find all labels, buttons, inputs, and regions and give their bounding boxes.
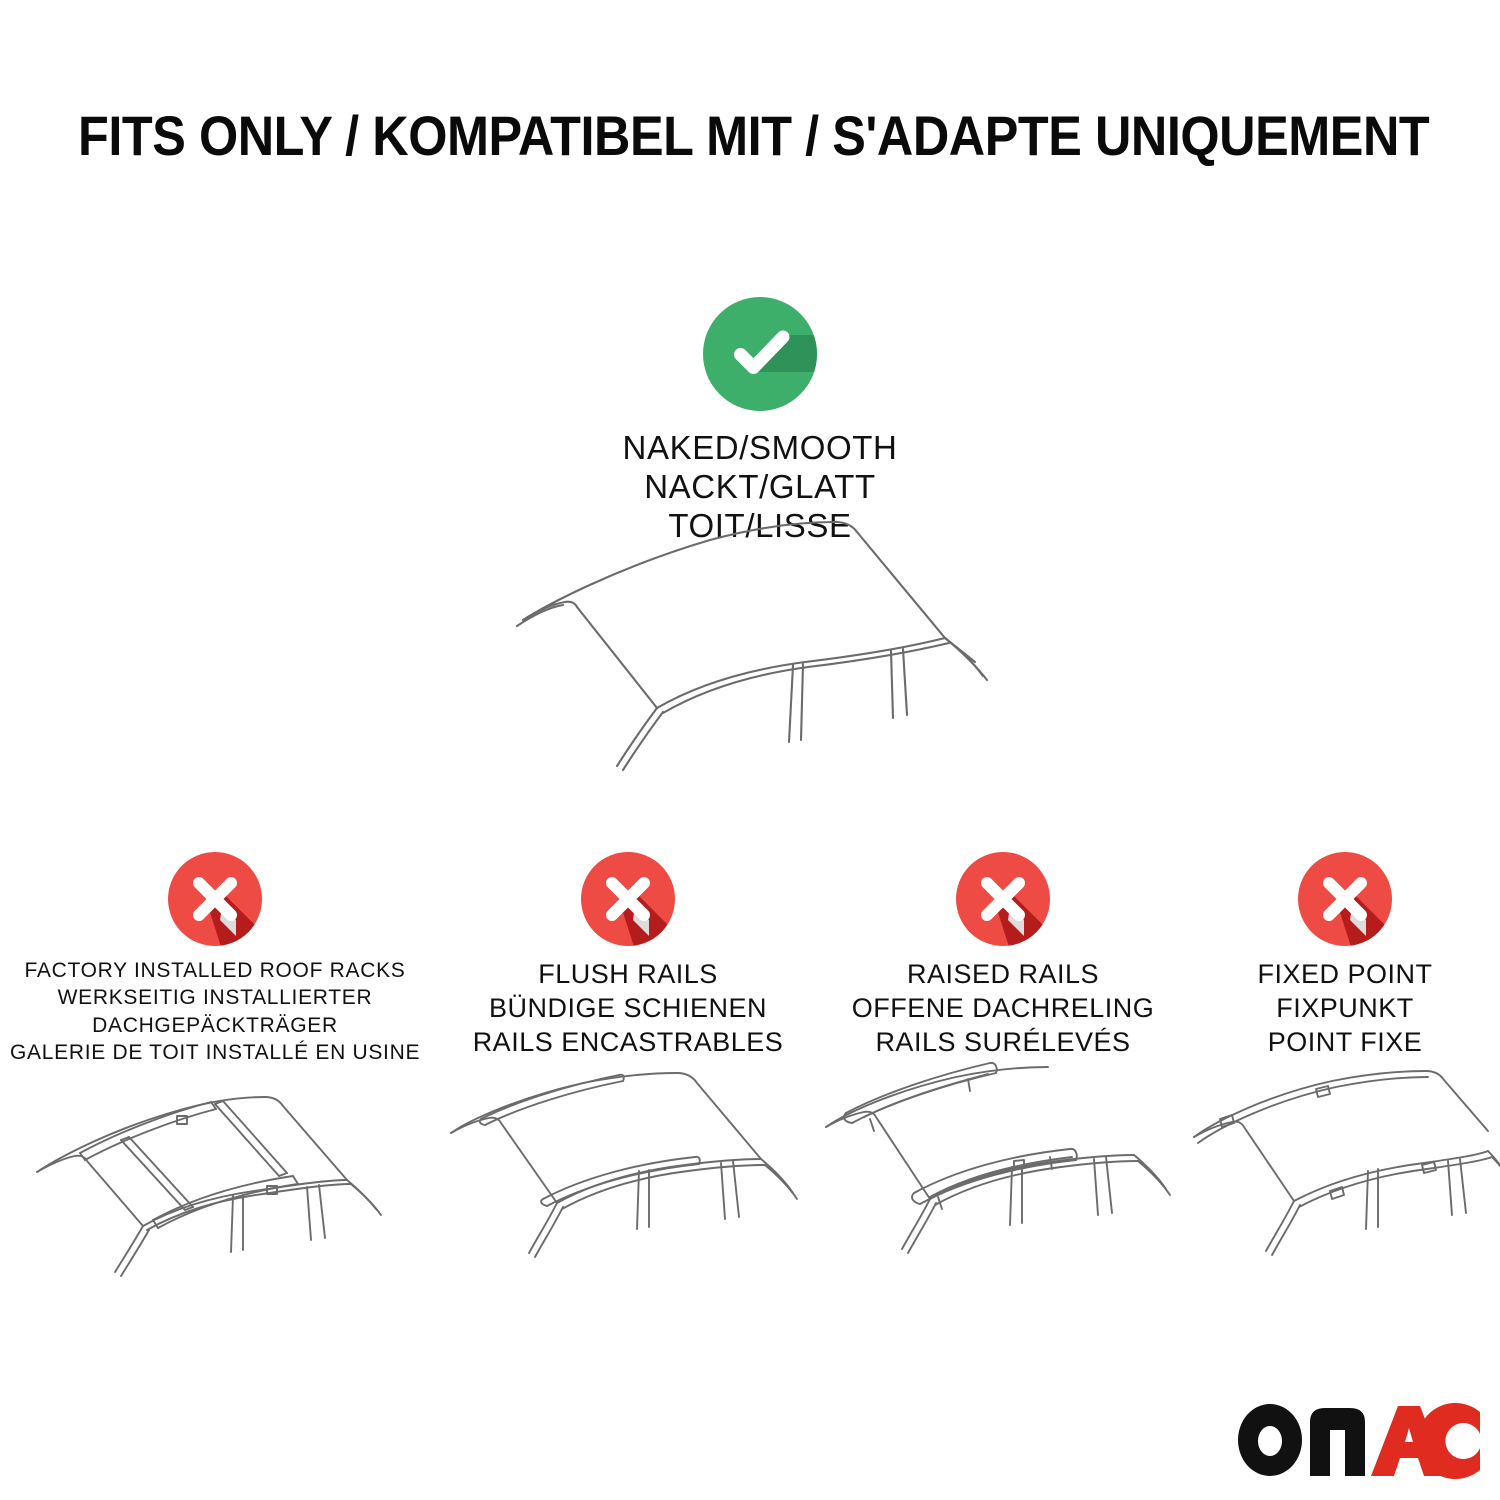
- item-label: RAISED RAILS OFFENE DACHRELING RAILS SUR…: [818, 957, 1188, 1059]
- item-label: FLUSH RAILS BÜNDIGE SCHIENEN RAILS ENCAS…: [443, 957, 813, 1059]
- roof-drawing-raised-rails: [818, 1073, 1188, 1288]
- item-label-line-1: RAISED RAILS: [818, 957, 1188, 991]
- x-badge: [818, 845, 1188, 953]
- incompatible-item-raised-rails: RAISED RAILS OFFENE DACHRELING RAILS SUR…: [818, 845, 1188, 1288]
- item-label-line-2: WERKSEITIG INSTALLIERTER: [10, 984, 420, 1011]
- logo-letter-o: [1238, 1404, 1302, 1476]
- check-badge: [500, 295, 1020, 413]
- omac-logo-mark: [1232, 1398, 1480, 1484]
- roof-drawing-flush-rails: [443, 1073, 813, 1288]
- roof-drawing-fixed-point: [1190, 1073, 1500, 1288]
- check-circle-icon: [701, 295, 819, 413]
- compatible-label-line-en: NAKED/SMOOTH: [500, 429, 1020, 468]
- car-roof-flush-rails-illustration: [443, 1073, 813, 1288]
- item-label-line-4: GALERIE DE TOIT INSTALLÉ EN USINE: [10, 1039, 420, 1066]
- page-title: FITS ONLY / KOMPATIBEL MIT / S'ADAPTE UN…: [78, 108, 1302, 164]
- x-circle-icon: [954, 850, 1052, 948]
- x-circle-icon: [579, 850, 677, 948]
- item-label-line-1: FLUSH RAILS: [443, 957, 813, 991]
- item-label-line-2: FIXPUNKT: [1195, 991, 1495, 1025]
- x-circle-icon: [166, 850, 264, 948]
- incompatible-item-flush-rails: FLUSH RAILS BÜNDIGE SCHIENEN RAILS ENCAS…: [443, 845, 813, 1288]
- item-label-line-3: RAILS SURÉLEVÉS: [818, 1025, 1188, 1059]
- car-roof-factory-roof-rack-illustration: [10, 1080, 420, 1295]
- omac-logo: [1232, 1398, 1480, 1484]
- item-label: FACTORY INSTALLED ROOF RACKS WERKSEITIG …: [10, 957, 420, 1066]
- compatible-label-line-de: NACKT/GLATT: [500, 468, 1020, 507]
- logo-letter-m: [1310, 1408, 1365, 1476]
- incompatible-section: FACTORY INSTALLED ROOF RACKS WERKSEITIG …: [0, 845, 1500, 1365]
- car-roof-fixed-point-illustration: [1195, 1073, 1495, 1288]
- item-label-line-3: RAILS ENCASTRABLES: [443, 1025, 813, 1059]
- x-badge: [443, 845, 813, 953]
- item-label-line-2: BÜNDIGE SCHIENEN: [443, 991, 813, 1025]
- roof-drawing-factory-rack: [25, 1080, 405, 1295]
- x-circle-icon: [1296, 850, 1394, 948]
- item-label-line-3: DACHGEPÄCKTRÄGER: [10, 1012, 420, 1039]
- x-badge: [1195, 845, 1495, 953]
- item-label-line-1: FIXED POINT: [1195, 957, 1495, 991]
- car-roof-raised-rails-illustration: [818, 1073, 1188, 1288]
- item-label: FIXED POINT FIXPUNKT POINT FIXE: [1195, 957, 1495, 1059]
- compatible-section: NAKED/SMOOTH NACKT/GLATT TOIT/LISSE: [500, 295, 1020, 546]
- item-label-line-2: OFFENE DACHRELING: [818, 991, 1188, 1025]
- incompatible-item-fixed-point: FIXED POINT FIXPUNKT POINT FIXE: [1195, 845, 1495, 1288]
- x-badge: [10, 845, 420, 953]
- roof-drawing-naked: [505, 510, 1015, 790]
- incompatible-item-factory-roof-rack: FACTORY INSTALLED ROOF RACKS WERKSEITIG …: [10, 845, 420, 1295]
- item-label-line-1: FACTORY INSTALLED ROOF RACKS: [10, 957, 420, 984]
- car-roof-naked-smooth-illustration: [505, 510, 1015, 790]
- item-label-line-3: POINT FIXE: [1195, 1025, 1495, 1059]
